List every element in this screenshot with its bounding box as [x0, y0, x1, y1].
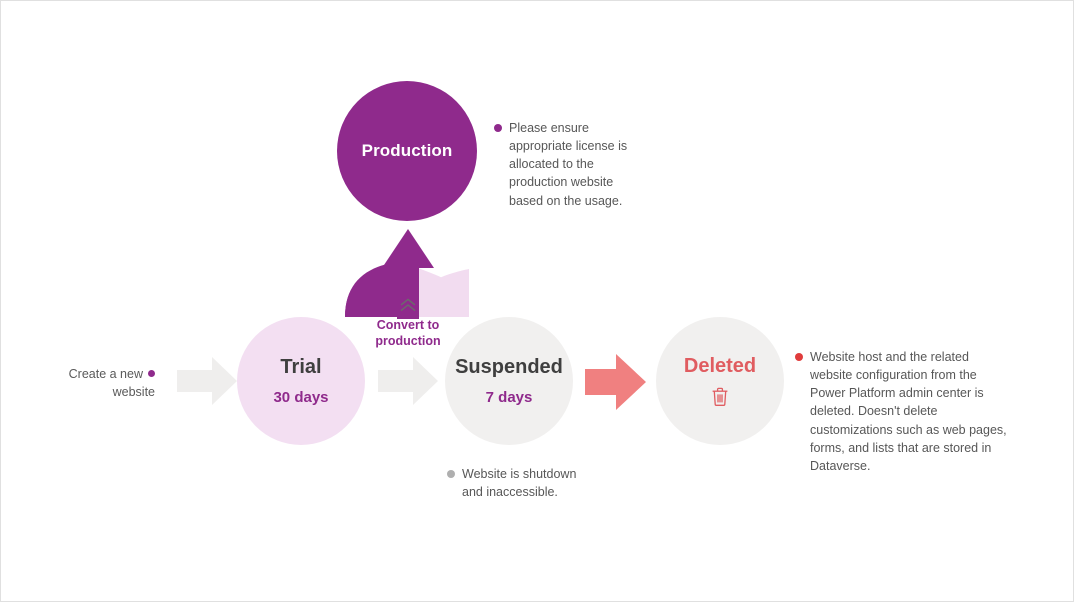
source-bullet-dot	[148, 370, 155, 377]
node-suspended-duration: 7 days	[486, 389, 533, 408]
note-bullet-icon	[795, 353, 803, 361]
convert-caption-line2: production	[375, 334, 440, 348]
create-new-website-label: Create a new website	[45, 365, 155, 401]
convert-caption-line1: Convert to	[377, 318, 440, 332]
node-trial-duration: 30 days	[273, 389, 328, 408]
note-production-text: Please ensure appropriate license is all…	[509, 119, 639, 210]
chevron-up-double-icon	[390, 298, 426, 315]
node-deleted[interactable]: Deleted	[656, 317, 784, 445]
diagram-text-layer: Create a new website Production Trial 30…	[1, 1, 1074, 602]
note-production: Please ensure appropriate license is all…	[494, 119, 639, 210]
convert-to-production-label: Convert to production	[353, 318, 463, 349]
create-label-line1: Create a new	[69, 367, 143, 381]
node-suspended-title: Suspended	[455, 355, 563, 380]
node-deleted-title: Deleted	[684, 354, 756, 379]
node-suspended[interactable]: Suspended 7 days	[445, 317, 573, 445]
note-suspended: Website is shutdown and inaccessible.	[447, 465, 592, 501]
note-deleted: Website host and the related website con…	[795, 348, 1007, 475]
create-label-line2: website	[113, 385, 155, 399]
trash-icon	[710, 386, 730, 408]
note-bullet-icon	[494, 124, 502, 132]
diagram-canvas: Create a new website Production Trial 30…	[0, 0, 1074, 602]
node-trial-title: Trial	[280, 355, 321, 380]
note-suspended-text: Website is shutdown and inaccessible.	[462, 465, 592, 501]
node-production-title: Production	[362, 140, 453, 161]
note-bullet-icon	[447, 470, 455, 478]
node-trial[interactable]: Trial 30 days	[237, 317, 365, 445]
note-deleted-text: Website host and the related website con…	[810, 348, 1007, 475]
node-production[interactable]: Production	[337, 81, 477, 221]
